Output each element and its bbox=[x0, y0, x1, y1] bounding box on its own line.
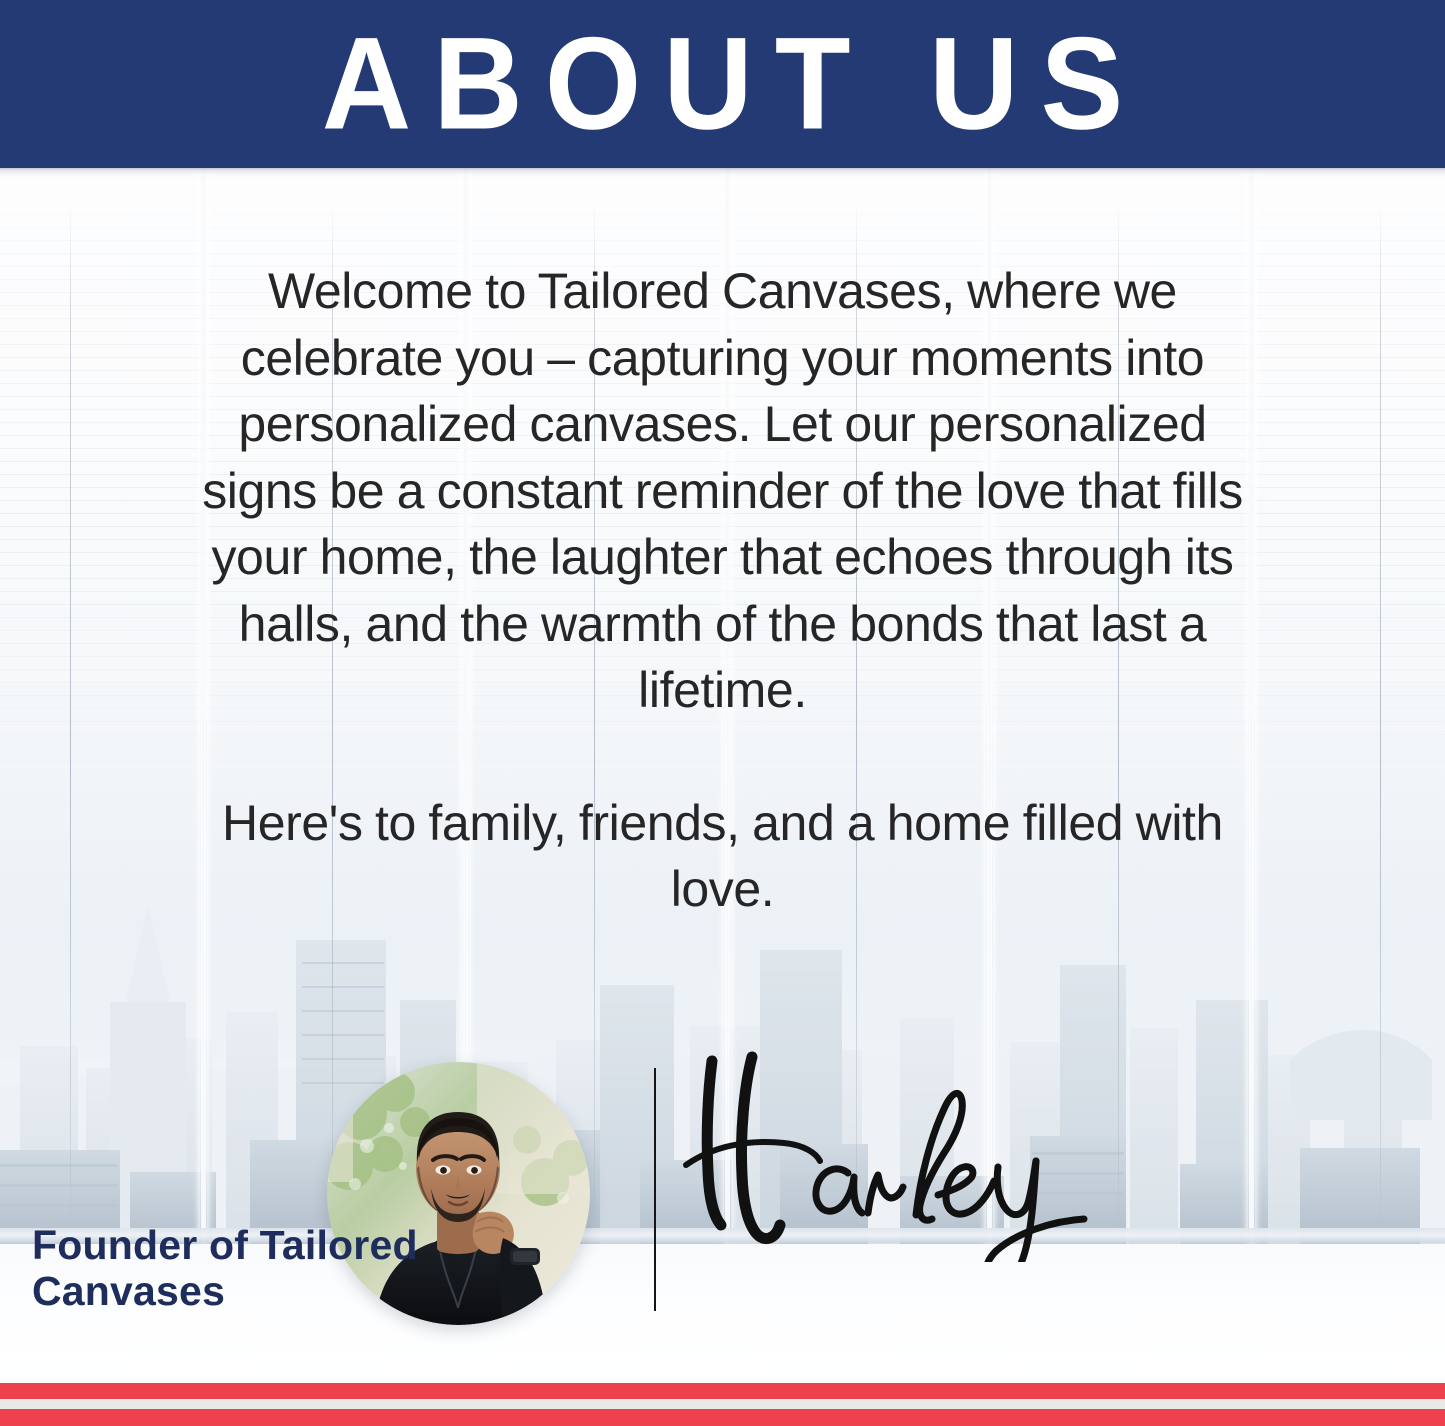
window-glazing-line bbox=[1380, 200, 1381, 1240]
signature-divider bbox=[654, 1068, 656, 1311]
footer-stripe-lower bbox=[0, 1409, 1445, 1426]
founder-role-line-2: Canvases bbox=[32, 1268, 552, 1314]
about-us-copy: Welcome to Tailored Canvases, where we c… bbox=[193, 258, 1253, 923]
about-paragraph-2: Here's to family, friends, and a home fi… bbox=[193, 790, 1253, 923]
about-us-page: ABOUT US Welcome to Tailored Canvases, w… bbox=[0, 0, 1445, 1426]
founder-role: Founder of Tailored Canvases bbox=[32, 1222, 552, 1314]
footer-stripes bbox=[0, 1378, 1445, 1426]
about-paragraph-1: Welcome to Tailored Canvases, where we c… bbox=[193, 258, 1253, 724]
harley-signature-icon bbox=[672, 1047, 1232, 1262]
about-us-header-banner: ABOUT US bbox=[0, 0, 1445, 168]
footer-stripe-upper bbox=[0, 1383, 1445, 1399]
founder-role-line-1: Founder of Tailored bbox=[32, 1222, 552, 1268]
window-glazing-line bbox=[70, 200, 71, 1240]
paragraph-spacer bbox=[193, 724, 1253, 790]
header-drop-shadow bbox=[0, 168, 1445, 180]
page-title: ABOUT US bbox=[300, 18, 1146, 149]
signature-block bbox=[672, 1047, 1232, 1337]
footer-stripe-gap bbox=[0, 1399, 1445, 1409]
